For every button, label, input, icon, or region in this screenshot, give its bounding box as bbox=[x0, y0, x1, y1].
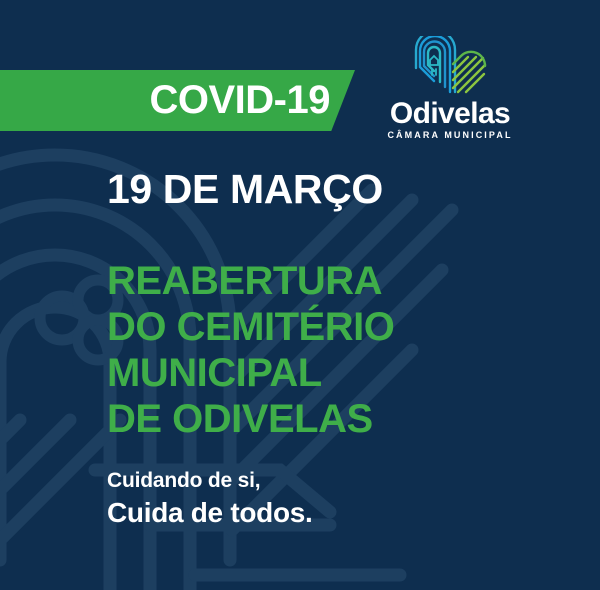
event-date: 19 DE MARÇO bbox=[107, 166, 383, 213]
heading-line-4: DE ODIVELAS bbox=[107, 396, 394, 442]
tagline-line-1: Cuidando de si, bbox=[107, 468, 313, 494]
campaign-tagline: Cuidando de si, Cuida de todos. bbox=[107, 468, 313, 530]
announcement-heading: REABERTURA DO CEMITÉRIO MUNICIPAL DE ODI… bbox=[107, 258, 394, 442]
tagline-line-2: Cuida de todos. bbox=[107, 496, 313, 530]
covid-announcement-poster: COVID-19 bbox=[0, 0, 600, 590]
heading-line-1: REABERTURA bbox=[107, 258, 394, 304]
odivelas-logo: Odivelas CÂMARA MUNICIPAL bbox=[372, 36, 528, 140]
logo-subtitle: CÂMARA MUNICIPAL bbox=[372, 131, 528, 141]
heading-line-3: MUNICIPAL bbox=[107, 350, 394, 396]
covid-banner-label: COVID-19 bbox=[0, 70, 330, 131]
heading-line-2: DO CEMITÉRIO bbox=[107, 304, 394, 350]
logo-wordmark: Odivelas bbox=[372, 98, 528, 130]
heart-fingerprint-icon bbox=[408, 36, 492, 94]
